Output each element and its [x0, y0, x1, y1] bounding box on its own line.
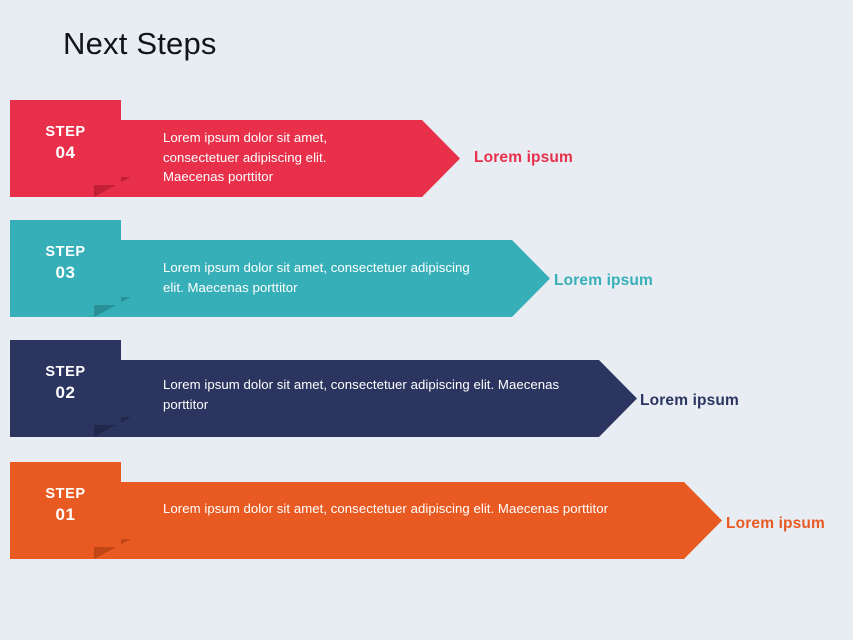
step-tip-label[interactable]: Lorem ipsum [554, 272, 653, 290]
step-word-label: STEP [45, 363, 85, 382]
step-body-text: Lorem ipsum dolor sit amet, consectetuer… [163, 258, 475, 297]
step-body-text: Lorem ipsum dolor sit amet, consectetuer… [163, 128, 378, 187]
step-body-text: Lorem ipsum dolor sit amet, consectetuer… [163, 499, 653, 519]
step-number-label: 02 [55, 382, 75, 403]
step-badge-01[interactable]: STEP01 [10, 462, 121, 547]
step-body-text: Lorem ipsum dolor sit amet, consectetuer… [163, 375, 583, 414]
step-tip-label[interactable]: Lorem ipsum [726, 515, 825, 533]
page-title: Next Steps [63, 24, 217, 64]
step-number-label: 01 [55, 504, 75, 525]
slide-canvas: Next Steps STEP04Lorem ipsum dolor sit a… [0, 0, 853, 640]
step-number-label: 03 [55, 262, 75, 283]
step-word-label: STEP [45, 123, 85, 142]
step-badge-03[interactable]: STEP03 [10, 220, 121, 305]
step-badge-02[interactable]: STEP02 [10, 340, 121, 425]
step-number-label: 04 [55, 142, 75, 163]
step-tip-label[interactable]: Lorem ipsum [640, 392, 739, 410]
step-word-label: STEP [45, 243, 85, 262]
step-badge-04[interactable]: STEP04 [10, 100, 121, 185]
step-tip-label[interactable]: Lorem ipsum [474, 149, 573, 167]
step-word-label: STEP [45, 485, 85, 504]
